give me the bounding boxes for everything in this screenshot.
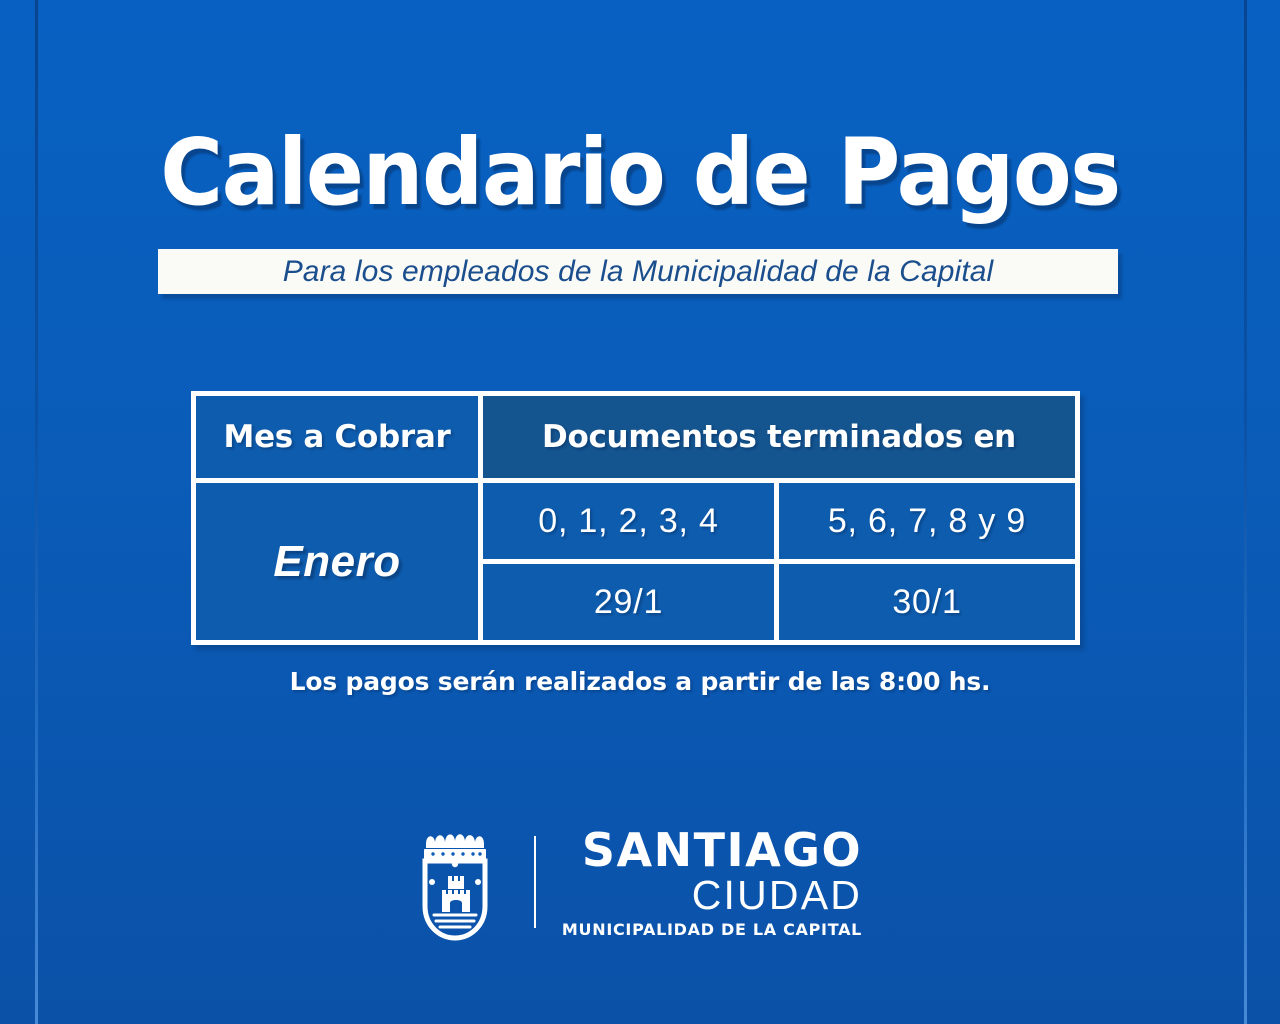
logo-primary-text: SANTIAGO [582,827,862,873]
table-row: Enero 0, 1, 2, 3, 4 5, 6, 7, 8 y 9 29/1 … [196,478,1075,640]
payment-time-note: Los pagos serán realizados a partir de l… [0,667,1280,696]
logo-wordmark: SANTIAGO CIUDAD MUNICIPALIDAD DE LA CAPI… [562,827,862,938]
endings-row: 0, 1, 2, 3, 4 5, 6, 7, 8 y 9 [483,483,1075,559]
logo-secondary-text: CIUDAD [692,875,862,916]
dates-row: 29/1 30/1 [483,559,1075,640]
note-prefix: Los pagos serán realizados a partir de l… [290,667,879,696]
logo-tagline: MUNICIPALIDAD DE LA CAPITAL [562,922,862,938]
document-endings-and-dates: 0, 1, 2, 3, 4 5, 6, 7, 8 y 9 29/1 30/1 [483,483,1075,640]
column-header-documents: Documentos terminados en [483,396,1075,478]
ending-group-2: 5, 6, 7, 8 y 9 [779,483,1075,559]
note-hour: 8:00 hs. [879,667,990,696]
crowned-shield-icon [418,820,504,944]
poster-canvas: Calendario de Pagos Para los empleados d… [0,0,1280,1024]
page-title: Calendario de Pagos [45,126,1235,220]
title-block: Calendario de Pagos [0,126,1280,220]
logo-lockup: SANTIAGO CIUDAD MUNICIPALIDAD DE LA CAPI… [0,820,1280,944]
subtitle-banner: Para los empleados de la Municipalidad d… [158,249,1118,294]
month-cell: Enero [196,483,483,640]
column-header-month: Mes a Cobrar [196,396,483,478]
logo-divider [534,836,536,928]
table-header-row: Mes a Cobrar Documentos terminados en [196,396,1075,478]
payment-date-1: 29/1 [483,564,779,640]
payment-date-2: 30/1 [779,564,1075,640]
subtitle-text: Para los empleados de la Municipalidad d… [283,255,994,289]
payment-schedule-table: Mes a Cobrar Documentos terminados en En… [191,391,1080,645]
ending-group-1: 0, 1, 2, 3, 4 [483,483,779,559]
